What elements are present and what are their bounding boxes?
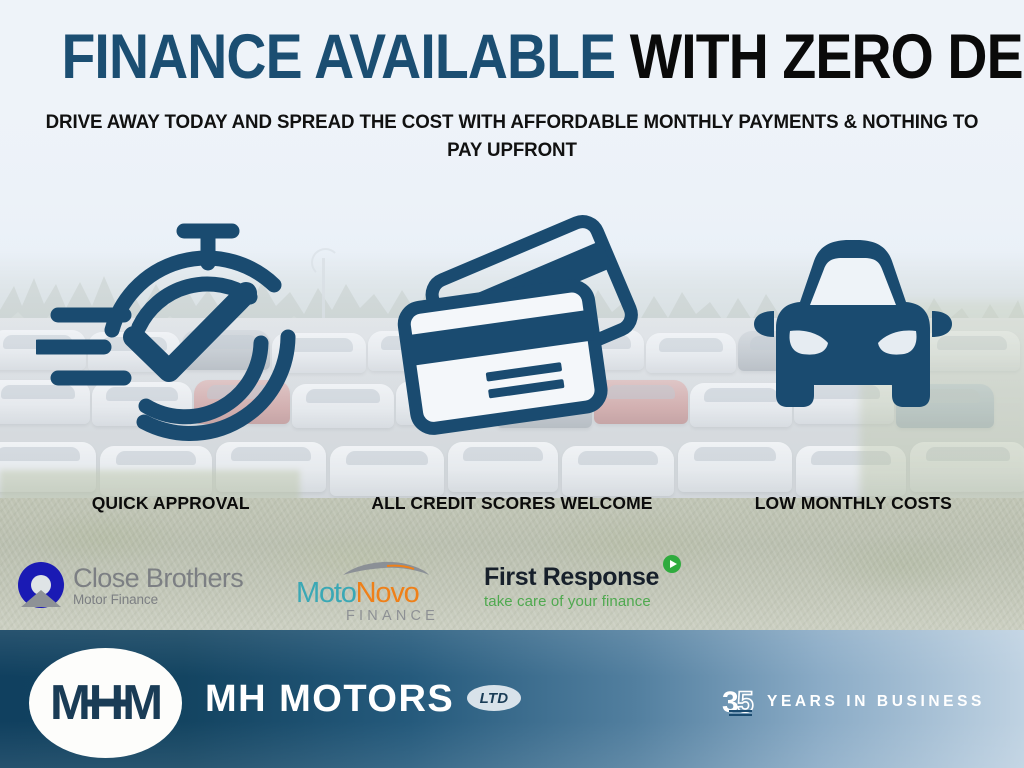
finance-promo-poster: FINANCE AVAILABLE WITH ZERO DEPOSIT DRIV… <box>0 0 1024 768</box>
partner-tagline: FINANCE <box>346 608 439 624</box>
partner-name-part1: Moto <box>296 577 356 609</box>
partner-name-part2: Novo <box>356 577 419 609</box>
partner-name: Close Brothers <box>73 564 243 592</box>
play-circle-icon <box>663 555 681 573</box>
finance-partner-logos: Close Brothers Motor Finance MotoNovo FI… <box>0 558 1024 630</box>
partner-name: First Response <box>484 564 659 591</box>
years-in-business: 3 5 YEARS IN BUSINESS <box>722 686 985 718</box>
brand-name: MH MOTORS <box>205 678 454 720</box>
credit-cards-icon <box>341 205 682 475</box>
motonovo-car-swoosh-icon <box>340 560 432 578</box>
feature-low-monthly-costs: LOW MONTHLY COSTS <box>683 205 1024 525</box>
headline-blue-part: FINANCE AVAILABLE <box>61 22 615 92</box>
years-label: YEARS IN BUSINESS <box>767 692 985 712</box>
first-response-logo: First Response take care of your finance <box>484 564 681 611</box>
close-brothers-logo-icon <box>18 562 64 608</box>
svg-text:5: 5 <box>737 686 754 718</box>
feature-quick-approval: QUICK APPROVAL <box>0 205 341 525</box>
years-number-icon: 3 5 <box>722 686 764 718</box>
ltd-badge-label: LTD <box>480 690 509 707</box>
subtitle: DRIVE AWAY TODAY AND SPREAD THE COST WIT… <box>42 108 983 164</box>
mhm-logo-badge: MHM <box>29 648 182 758</box>
close-brothers-logo: Close Brothers Motor Finance <box>18 562 243 608</box>
partner-tagline: take care of your finance <box>484 593 651 611</box>
ltd-badge: LTD <box>467 685 521 711</box>
feature-label: LOW MONTHLY COSTS <box>683 493 1024 514</box>
page-title: FINANCE AVAILABLE WITH ZERO DEPOSIT <box>61 26 962 88</box>
mhm-monogram-crossbar <box>85 700 127 707</box>
partner-tagline: Motor Finance <box>73 592 243 607</box>
stopwatch-check-icon <box>0 205 341 475</box>
car-front-icon <box>683 205 1024 475</box>
feature-label: QUICK APPROVAL <box>0 493 341 514</box>
headline-black-part: WITH ZERO DEPOSIT <box>630 22 1024 92</box>
feature-label: ALL CREDIT SCORES WELCOME <box>341 493 682 514</box>
motonovo-logo: MotoNovo FINANCE <box>296 560 439 624</box>
feature-row: QUICK APPROVAL <box>0 205 1024 525</box>
feature-all-credit-scores: ALL CREDIT SCORES WELCOME <box>341 205 682 525</box>
